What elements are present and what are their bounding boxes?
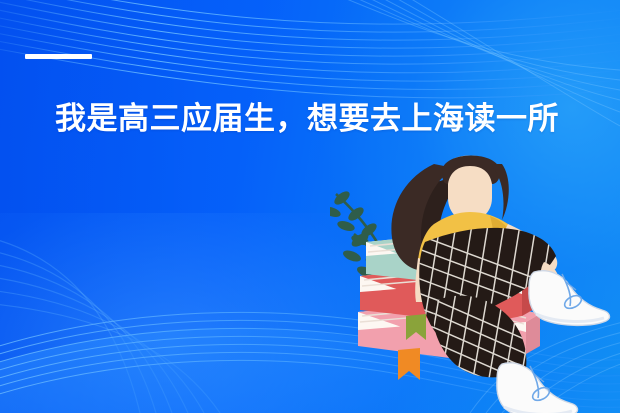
top-wave-lines — [0, 0, 620, 98]
bookmark-orange — [398, 348, 420, 380]
illustration-girl-on-books — [330, 150, 620, 413]
headline-divider-rule — [25, 54, 92, 59]
sneaker-back — [497, 363, 578, 413]
sneaker-front — [529, 271, 610, 326]
article-banner: 我是高三应届生，想要去上海读一所 — [0, 0, 620, 413]
girl-figure — [391, 156, 609, 413]
page-title: 我是高三应届生，想要去上海读一所 — [55, 101, 585, 137]
